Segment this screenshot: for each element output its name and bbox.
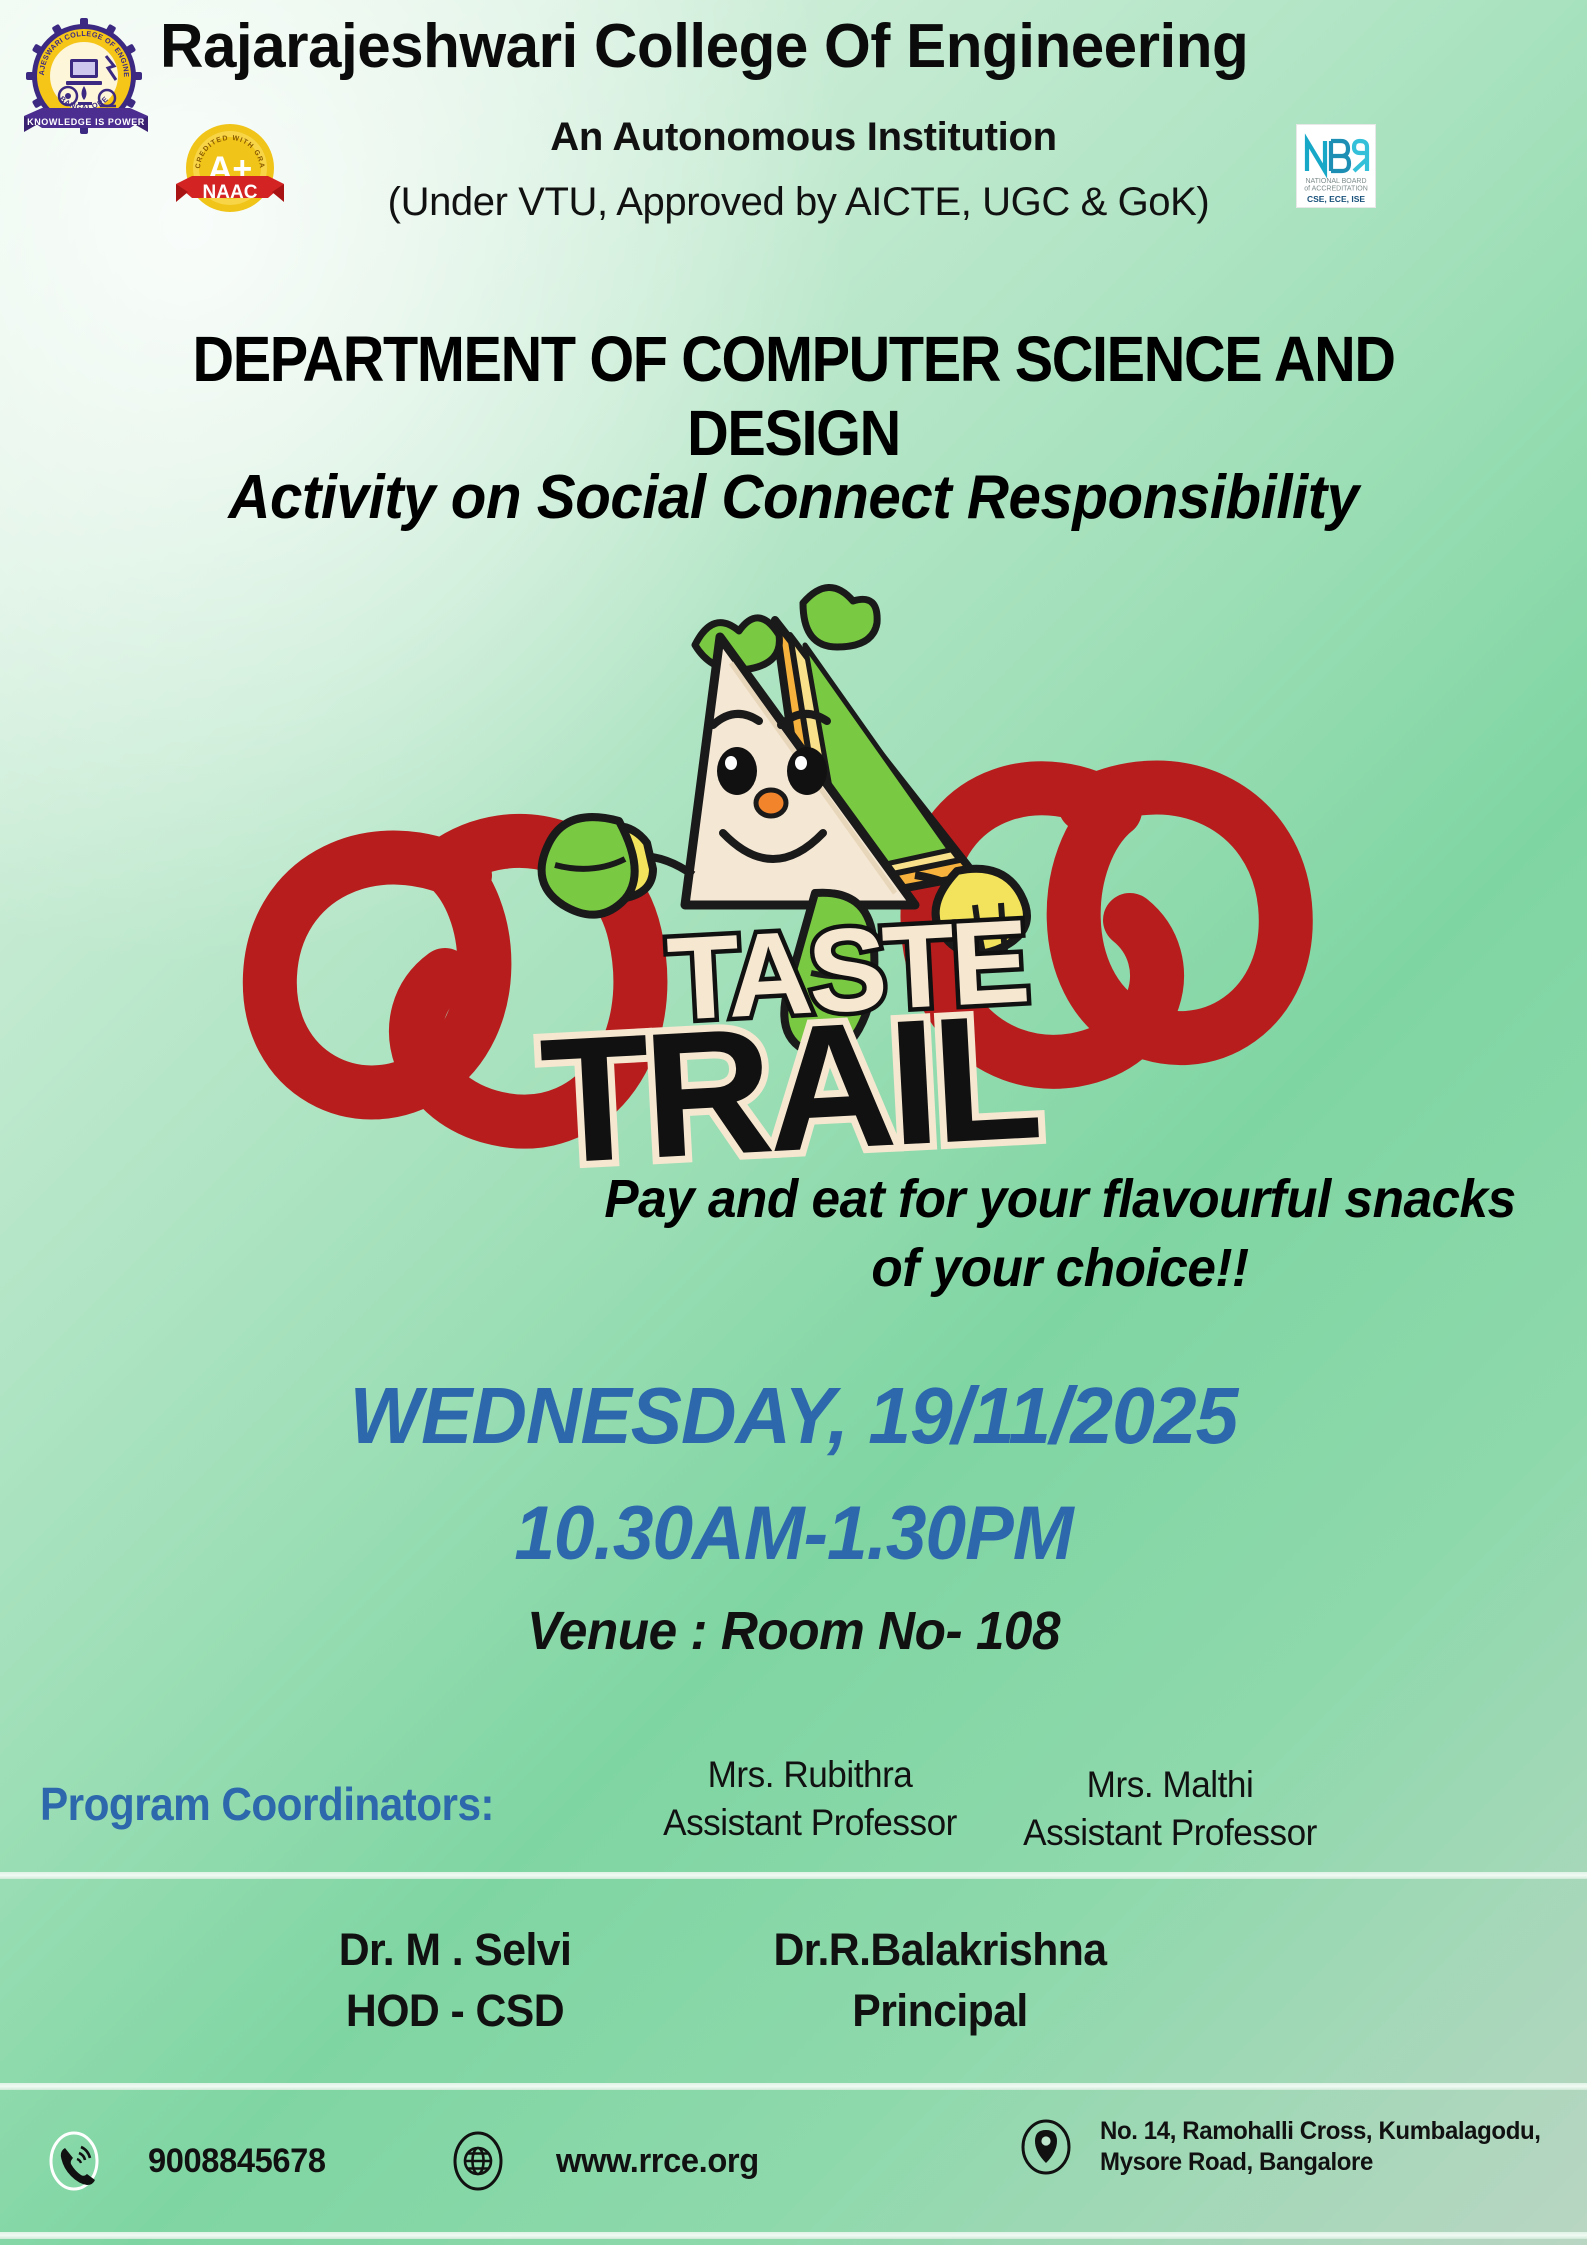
event-time: 10.30AM-1.30PM — [32, 1490, 1556, 1577]
signatories: Dr. M . Selvi HOD - CSD Dr.R.Balakrishna… — [0, 1910, 1587, 2070]
principal-name: Dr.R.Balakrishna — [712, 1920, 1168, 1981]
location-pin-icon — [1020, 2118, 1072, 2176]
principal-designation: Principal — [712, 1981, 1168, 2042]
event-venue: Venue : Room No- 108 — [40, 1600, 1548, 1662]
footer-website: www.rrce.org — [452, 2130, 767, 2192]
activity-title: Activity on Social Connect Responsibilit… — [48, 462, 1540, 533]
divider-footer-top — [0, 2083, 1587, 2090]
hod-designation: HOD - CSD — [232, 1981, 679, 2042]
phone-icon — [48, 2130, 100, 2192]
event-tagline: Pay and eat for your flavourful snacks o… — [585, 1165, 1535, 1303]
coordinator-2-designation: Assistant Professor — [1009, 1809, 1332, 1857]
poster-footer: 9008845678 www.rrce.org — [0, 2090, 1587, 2233]
coordinator-2: Mrs. Malthi Assistant Professor — [1009, 1761, 1332, 1857]
approvals-line: (Under VTU, Approved by AICTE, UGC & GoK… — [0, 180, 1587, 225]
phone-number[interactable]: 9008845678 — [148, 2140, 326, 2182]
footer-phone: 9008845678 — [48, 2130, 333, 2192]
autonomous-institution-line: An Autonomous Institution — [0, 115, 1587, 160]
coordinator-1-name: Mrs. Rubithra — [649, 1751, 972, 1799]
coordinator-1: Mrs. Rubithra Assistant Professor — [649, 1751, 972, 1847]
hod-name: Dr. M . Selvi — [232, 1920, 679, 1981]
coordinator-2-name: Mrs. Malthi — [1009, 1761, 1332, 1809]
divider-bottom — [0, 2232, 1587, 2239]
address-line-1: No. 14, Ramohalli Cross, Kumbalagodu, — [1100, 2116, 1541, 2147]
department-title: DEPARTMENT OF COMPUTER SCIENCE AND DESIG… — [79, 322, 1507, 470]
signatory-hod: Dr. M . Selvi HOD - CSD — [232, 1920, 679, 2042]
address-line-2: Mysore Road, Bangalore — [1100, 2147, 1541, 2178]
coordinators-label: Program Coordinators: — [40, 1777, 494, 1831]
college-name: Rajarajeshwari College Of Engineering — [160, 14, 1411, 79]
event-poster: RAJARAJESWARI COLLEGE OF ENGINEERING BAN… — [0, 0, 1587, 2245]
website-url[interactable]: www.rrce.org — [556, 2140, 759, 2182]
footer-address: No. 14, Ramohalli Cross, Kumbalagodu, My… — [1020, 2116, 1559, 2178]
poster-header: RAJARAJESWARI COLLEGE OF ENGINEERING BAN… — [0, 0, 1587, 270]
coordinator-1-designation: Assistant Professor — [649, 1799, 972, 1847]
globe-icon — [452, 2130, 504, 2192]
divider-top — [0, 1872, 1587, 1879]
program-coordinators: Program Coordinators: Mrs. Rubithra Assi… — [0, 1745, 1587, 1865]
event-date: WEDNESDAY, 19/11/2025 — [32, 1370, 1556, 1462]
taste-trail-logo: TASTE TRAIL — [215, 575, 1345, 1195]
address-text: No. 14, Ramohalli Cross, Kumbalagodu, My… — [1100, 2116, 1541, 2178]
signatory-principal: Dr.R.Balakrishna Principal — [712, 1920, 1168, 2042]
